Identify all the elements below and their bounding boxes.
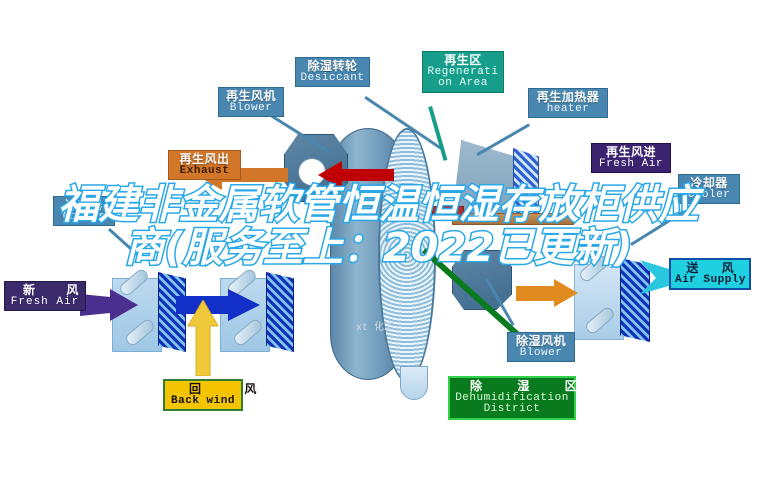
label-cooler-right-cn: 冷却器 xyxy=(683,177,735,190)
label-regeneration-air-out-cn: 再生风出 xyxy=(173,153,236,166)
dehumid-blower-arrow xyxy=(516,278,578,308)
label-back-wind-en: Back wind xyxy=(169,396,237,408)
label-air-supply: 送 风 Air Supply xyxy=(669,258,751,290)
label-dehumidification-district-cn: 除 湿 区 xyxy=(454,380,570,393)
label-back-wind: 回 风 Back wind xyxy=(163,379,243,411)
label-regeneration-air-in-en: Fresh Air xyxy=(596,159,666,171)
label-regeneration-blower: 再生风机 Blower xyxy=(218,87,284,117)
back-wind-arrow xyxy=(186,300,220,376)
label-cooler-right: 冷却器 Cooler xyxy=(678,174,740,204)
label-regeneration-area: 再生区 Regenerati on Area xyxy=(422,51,504,93)
label-fresh-air-in-en: Fresh Air xyxy=(9,297,81,309)
regeneration-base-plate xyxy=(452,213,574,225)
label-air-supply-cn: 送 风 xyxy=(675,262,745,275)
label-regeneration-blower-en: Blower xyxy=(223,103,279,115)
label-back-wind-cn: 回 风 xyxy=(169,383,237,396)
leader-regen-area xyxy=(428,106,447,161)
wheel-drip-tray xyxy=(400,366,428,400)
label-dehumidification-blower: 除湿风机 Blower xyxy=(507,332,575,362)
label-air-supply-en: Air Supply xyxy=(675,275,745,287)
label-regeneration-air-out: 再生风出 Exhaust xyxy=(168,150,241,180)
label-regeneration-area-en2: on Area xyxy=(427,78,499,90)
regen-inlet-block xyxy=(432,206,464,220)
diagram-canvas: xt 化工 除湿转轮 Desiccant 再生风机 xyxy=(0,0,757,488)
label-dehumidification-district: 除 湿 区 Dehumidification District xyxy=(448,376,576,420)
leader-cooler-right xyxy=(630,209,686,245)
label-regeneration-heater-cn: 再生加热器 xyxy=(533,91,603,104)
label-regeneration-air-out-en: Exhaust xyxy=(173,166,236,178)
label-regeneration-air-in: 再生风进 Fresh Air xyxy=(591,143,671,173)
label-dehumidification-blower-cn: 除湿风机 xyxy=(512,335,570,348)
label-regeneration-blower-cn: 再生风机 xyxy=(223,90,279,103)
label-cooler-left: 冷却器 Cooler xyxy=(53,196,115,226)
cooler-coil-left2 xyxy=(266,272,294,352)
background-watermark: xt 化工 xyxy=(356,318,394,334)
label-fresh-air-in: 新 风 Fresh Air xyxy=(4,281,86,311)
label-regeneration-air-in-cn: 再生风进 xyxy=(596,146,666,159)
label-fresh-air-in-cn: 新 风 xyxy=(9,284,81,297)
leader-cooler-left xyxy=(108,228,144,261)
label-regeneration-heater-en: heater xyxy=(533,104,603,116)
label-desiccant-rotor-cn: 除湿转轮 xyxy=(300,60,365,73)
label-regeneration-area-cn: 再生区 xyxy=(427,54,499,67)
label-desiccant-rotor-en: Desiccant xyxy=(300,73,365,85)
label-cooler-right-en: Cooler xyxy=(683,190,735,202)
label-regeneration-heater: 再生加热器 heater xyxy=(528,88,608,118)
label-cooler-left-cn: 冷却器 xyxy=(58,199,110,212)
label-desiccant-rotor: 除湿转轮 Desiccant xyxy=(295,57,370,87)
label-dehumidification-district-en2: District xyxy=(454,404,570,416)
label-dehumidification-blower-en: Blower xyxy=(512,348,570,360)
regen-hot-arrow xyxy=(318,160,394,190)
heater-coil xyxy=(513,148,539,220)
label-cooler-left-en: Cooler xyxy=(58,212,110,224)
